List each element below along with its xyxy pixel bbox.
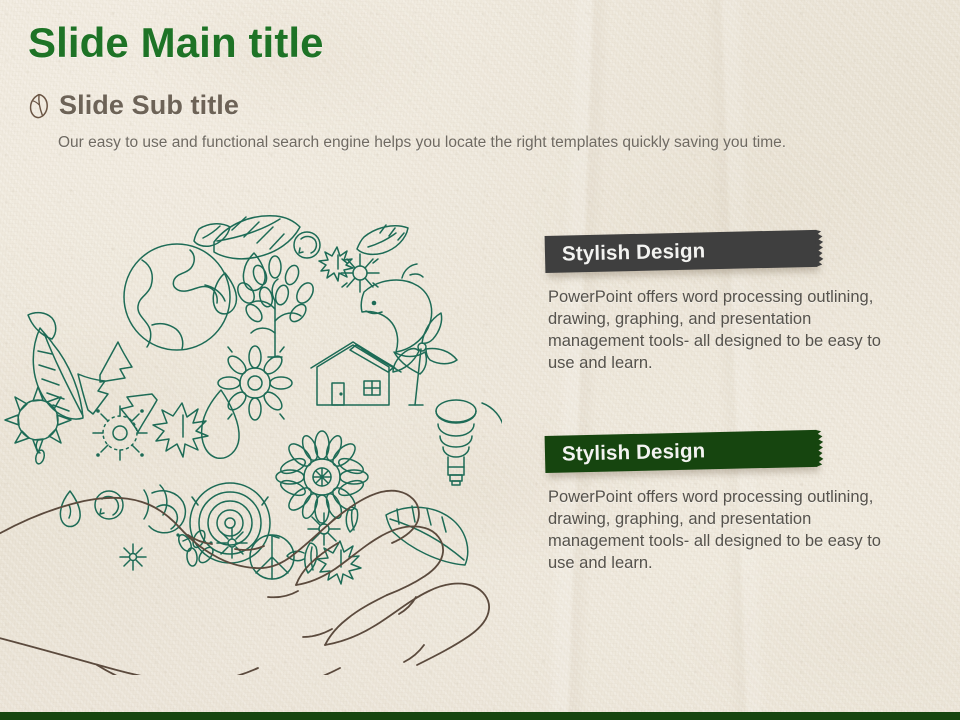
sprout-icon-a — [346, 507, 357, 532]
leaf-icon-top — [214, 216, 300, 259]
leaf-icon-top-right — [357, 225, 408, 254]
whale-icon — [361, 264, 431, 374]
sunflower-icon-b — [276, 431, 368, 523]
maple-leaf-icon-a — [319, 247, 353, 281]
subtitle-description: Our easy to use and functional search en… — [58, 130, 818, 157]
banner-1[interactable]: Stylish Design — [545, 236, 817, 273]
page-title: Slide Main title — [28, 22, 324, 64]
bottom-accent-bar — [0, 712, 960, 720]
tree-icon — [234, 256, 316, 357]
banner-dark-background[interactable]: Stylish Design — [545, 230, 818, 273]
feather-leaf-icon-right — [386, 506, 468, 565]
cfl-bulb-icon — [436, 400, 476, 485]
water-drop-icon-b — [213, 273, 236, 314]
recycle-icon — [78, 342, 157, 432]
open-cupped-hand — [0, 491, 489, 675]
maple-leaf-icon-c — [317, 541, 361, 584]
leaf-icon-right-edge — [482, 403, 502, 429]
banner-2-heading: Stylish Design — [545, 439, 706, 467]
banner-1-heading: Stylish Design — [545, 239, 706, 267]
banner-green-background[interactable]: Stylish Design — [545, 430, 818, 473]
wind-turbine-icon — [393, 313, 457, 405]
globe-earth-icon — [124, 244, 230, 350]
banner-2[interactable]: Stylish Design — [545, 436, 817, 473]
spiral-icon-b — [183, 483, 279, 563]
small-leaf-icon — [194, 224, 230, 246]
dandelion-icon-a — [341, 254, 379, 292]
content-block-1-body: PowerPoint offers word processing outlin… — [548, 286, 888, 374]
dandelion-icon-e — [217, 528, 247, 558]
spiral-icon-a — [144, 485, 185, 533]
hand-holding-eco-doodle-illustration — [0, 205, 502, 675]
dandelion-icon-d — [120, 544, 146, 570]
leaf-cluster-icon — [176, 529, 215, 567]
sunflower-icon-a — [218, 346, 292, 420]
content-block-2-body: PowerPoint offers word processing outlin… — [548, 486, 888, 574]
water-drop-icon-d — [60, 491, 80, 527]
leaf-icon — [28, 93, 50, 119]
dandelion-icon-b — [93, 406, 147, 460]
maple-leaf-icon-b — [153, 403, 208, 457]
water-drop-icon-c — [202, 390, 239, 458]
subtitle-row: Slide Sub title — [28, 92, 239, 119]
recycle-arrows-circle-icon-top — [294, 232, 320, 258]
feather-leaf-icon-left — [28, 313, 83, 419]
house-solar-roof-icon — [311, 342, 401, 405]
subtitle-label: Slide Sub title — [59, 92, 239, 119]
slide-canvas: Slide Main title Slide Sub title Our eas… — [0, 0, 960, 720]
recycle-arrows-circle-icon-b — [95, 491, 123, 519]
